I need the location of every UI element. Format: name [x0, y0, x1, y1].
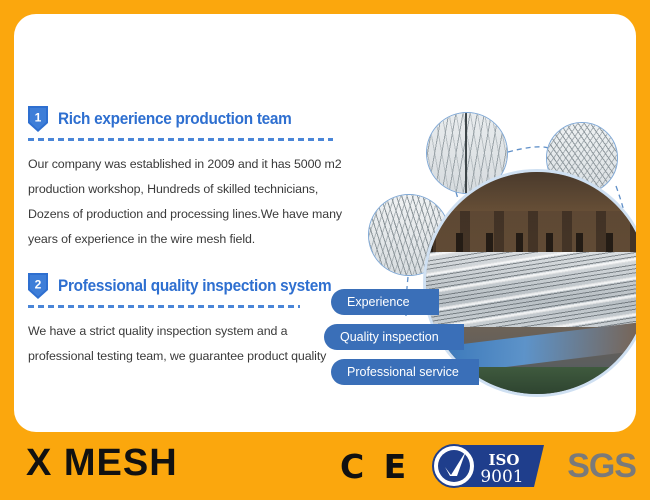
- section-2-body-text: We have a strict quality inspection syst…: [28, 319, 348, 369]
- footer-bar: X MESH C E ISO 9001 SGS: [0, 432, 650, 500]
- content-panel: 1 Rich experience production team Our co…: [14, 14, 636, 432]
- section-1-body: Our company was established in 2009 and …: [28, 152, 348, 252]
- shield-number-1: 1: [35, 111, 42, 125]
- section-2-title: Professional quality inspection system: [58, 277, 331, 296]
- feature-text-column: 1 Rich experience production team Our co…: [14, 105, 348, 369]
- feature-pill-list: Experience Quality inspection Profession…: [348, 289, 568, 394]
- shield-badge-icon: 2: [28, 273, 48, 299]
- pill-quality-inspection[interactable]: Quality inspection: [324, 324, 464, 350]
- shield-number-2: 2: [35, 278, 42, 292]
- photo-machine-frame: [426, 172, 636, 256]
- product-banner: 1 Rich experience production team Our co…: [0, 0, 650, 500]
- iso-9001-icon: ISO 9001: [426, 443, 551, 489]
- feature-section-1: 1 Rich experience production team Our co…: [28, 105, 348, 252]
- pill-experience[interactable]: Experience: [331, 289, 439, 315]
- iso-number: 9001: [481, 467, 524, 487]
- section-2-header: 2 Professional quality inspection system: [28, 272, 348, 300]
- section-1-header: 1 Rich experience production team: [28, 105, 348, 133]
- shield-badge-icon: 1: [28, 106, 48, 132]
- product-graphics: Experience Quality inspection Profession…: [348, 34, 636, 432]
- brand-logo: X MESH: [26, 442, 178, 485]
- section-2-divider: [28, 305, 300, 308]
- sgs-logo: SGS: [567, 447, 636, 486]
- pill-professional-service[interactable]: Professional service: [331, 359, 479, 385]
- section-2-body: We have a strict quality inspection syst…: [28, 319, 348, 369]
- ce-mark-icon: C E: [340, 447, 410, 486]
- section-1-divider: [28, 138, 333, 141]
- section-1-body-text: Our company was established in 2009 and …: [28, 152, 348, 252]
- section-1-title: Rich experience production team: [58, 110, 292, 129]
- feature-section-2: 2 Professional quality inspection system…: [28, 272, 348, 369]
- certification-logos: C E ISO 9001 SGS: [340, 440, 636, 492]
